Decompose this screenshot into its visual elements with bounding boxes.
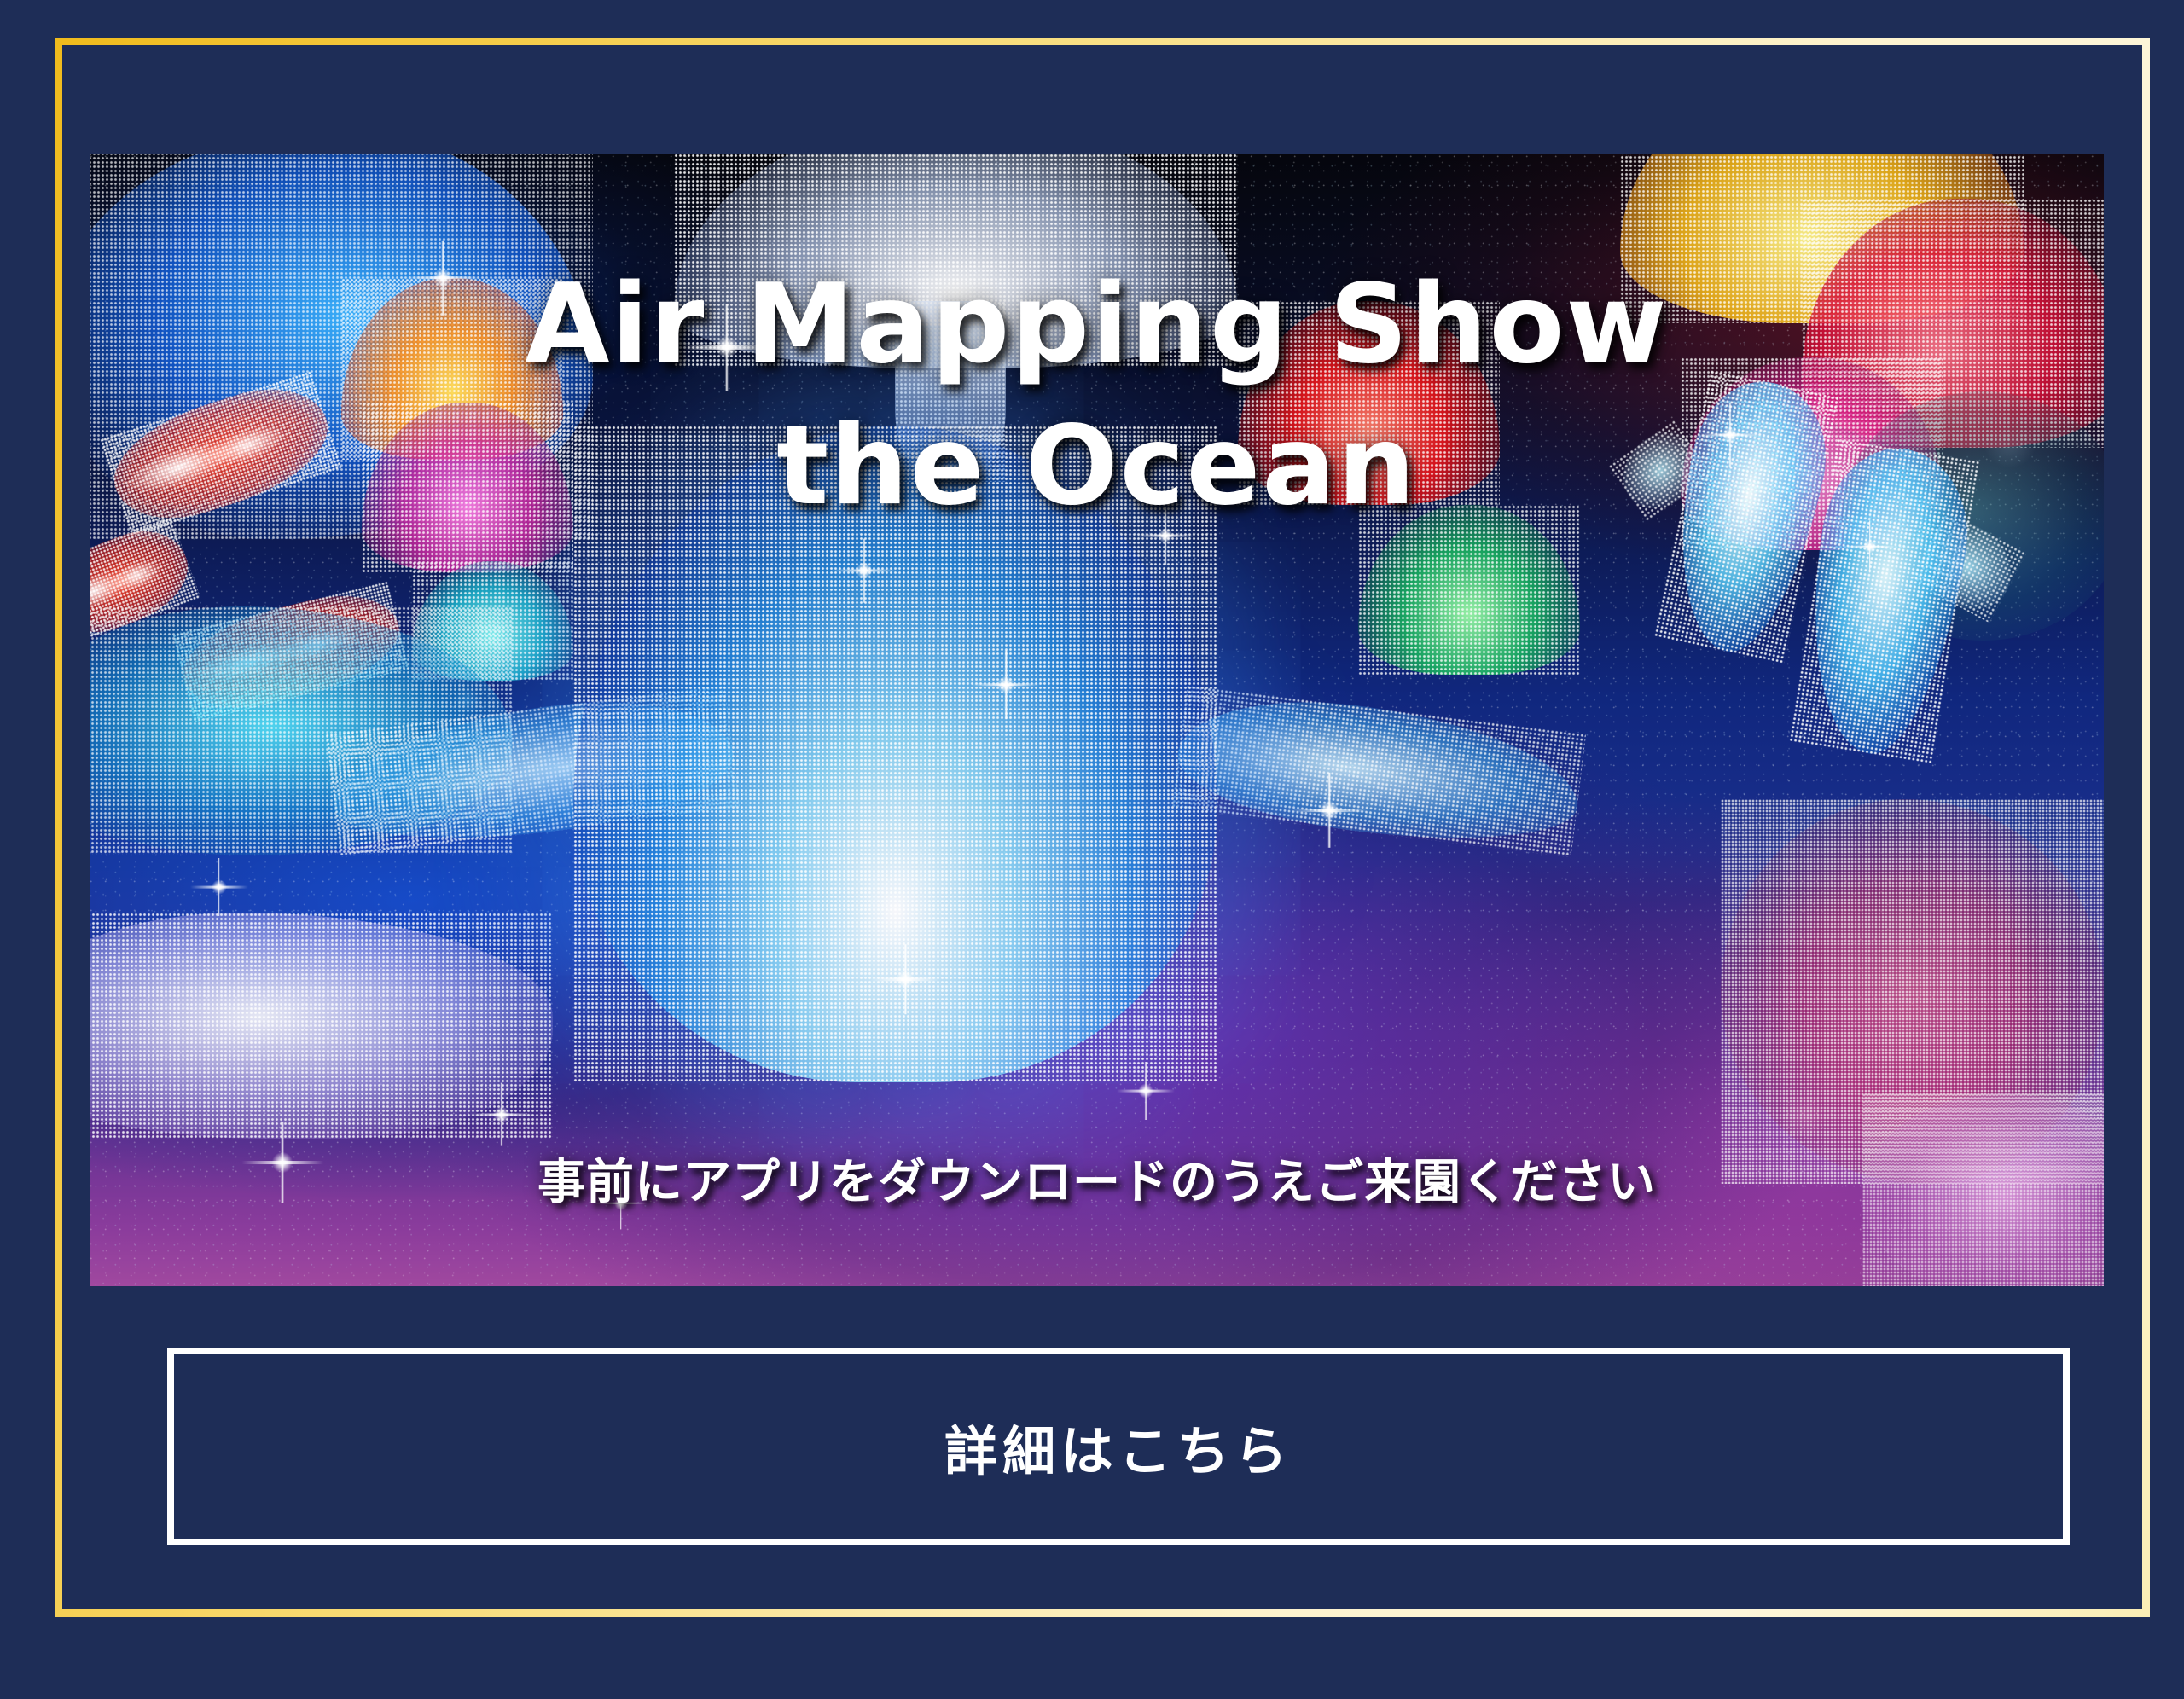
details-button-label: 詳細はこちら [944, 1408, 1292, 1485]
hero-subtitle: 事前にアプリをダウンロードのうえご来園ください [90, 1144, 2104, 1213]
hero-illumination-image[interactable]: Air Mapping Show the Ocean 事前にアプリをダウンロード… [90, 154, 2104, 1286]
details-button[interactable]: 詳細はこちら [167, 1348, 2070, 1545]
manta-white-illumination [90, 913, 553, 1139]
hero-title: Air Mapping Show the Ocean [90, 254, 2104, 538]
poster-root: Air Mapping Show the Ocean 事前にアプリをダウンロード… [0, 0, 2184, 1699]
